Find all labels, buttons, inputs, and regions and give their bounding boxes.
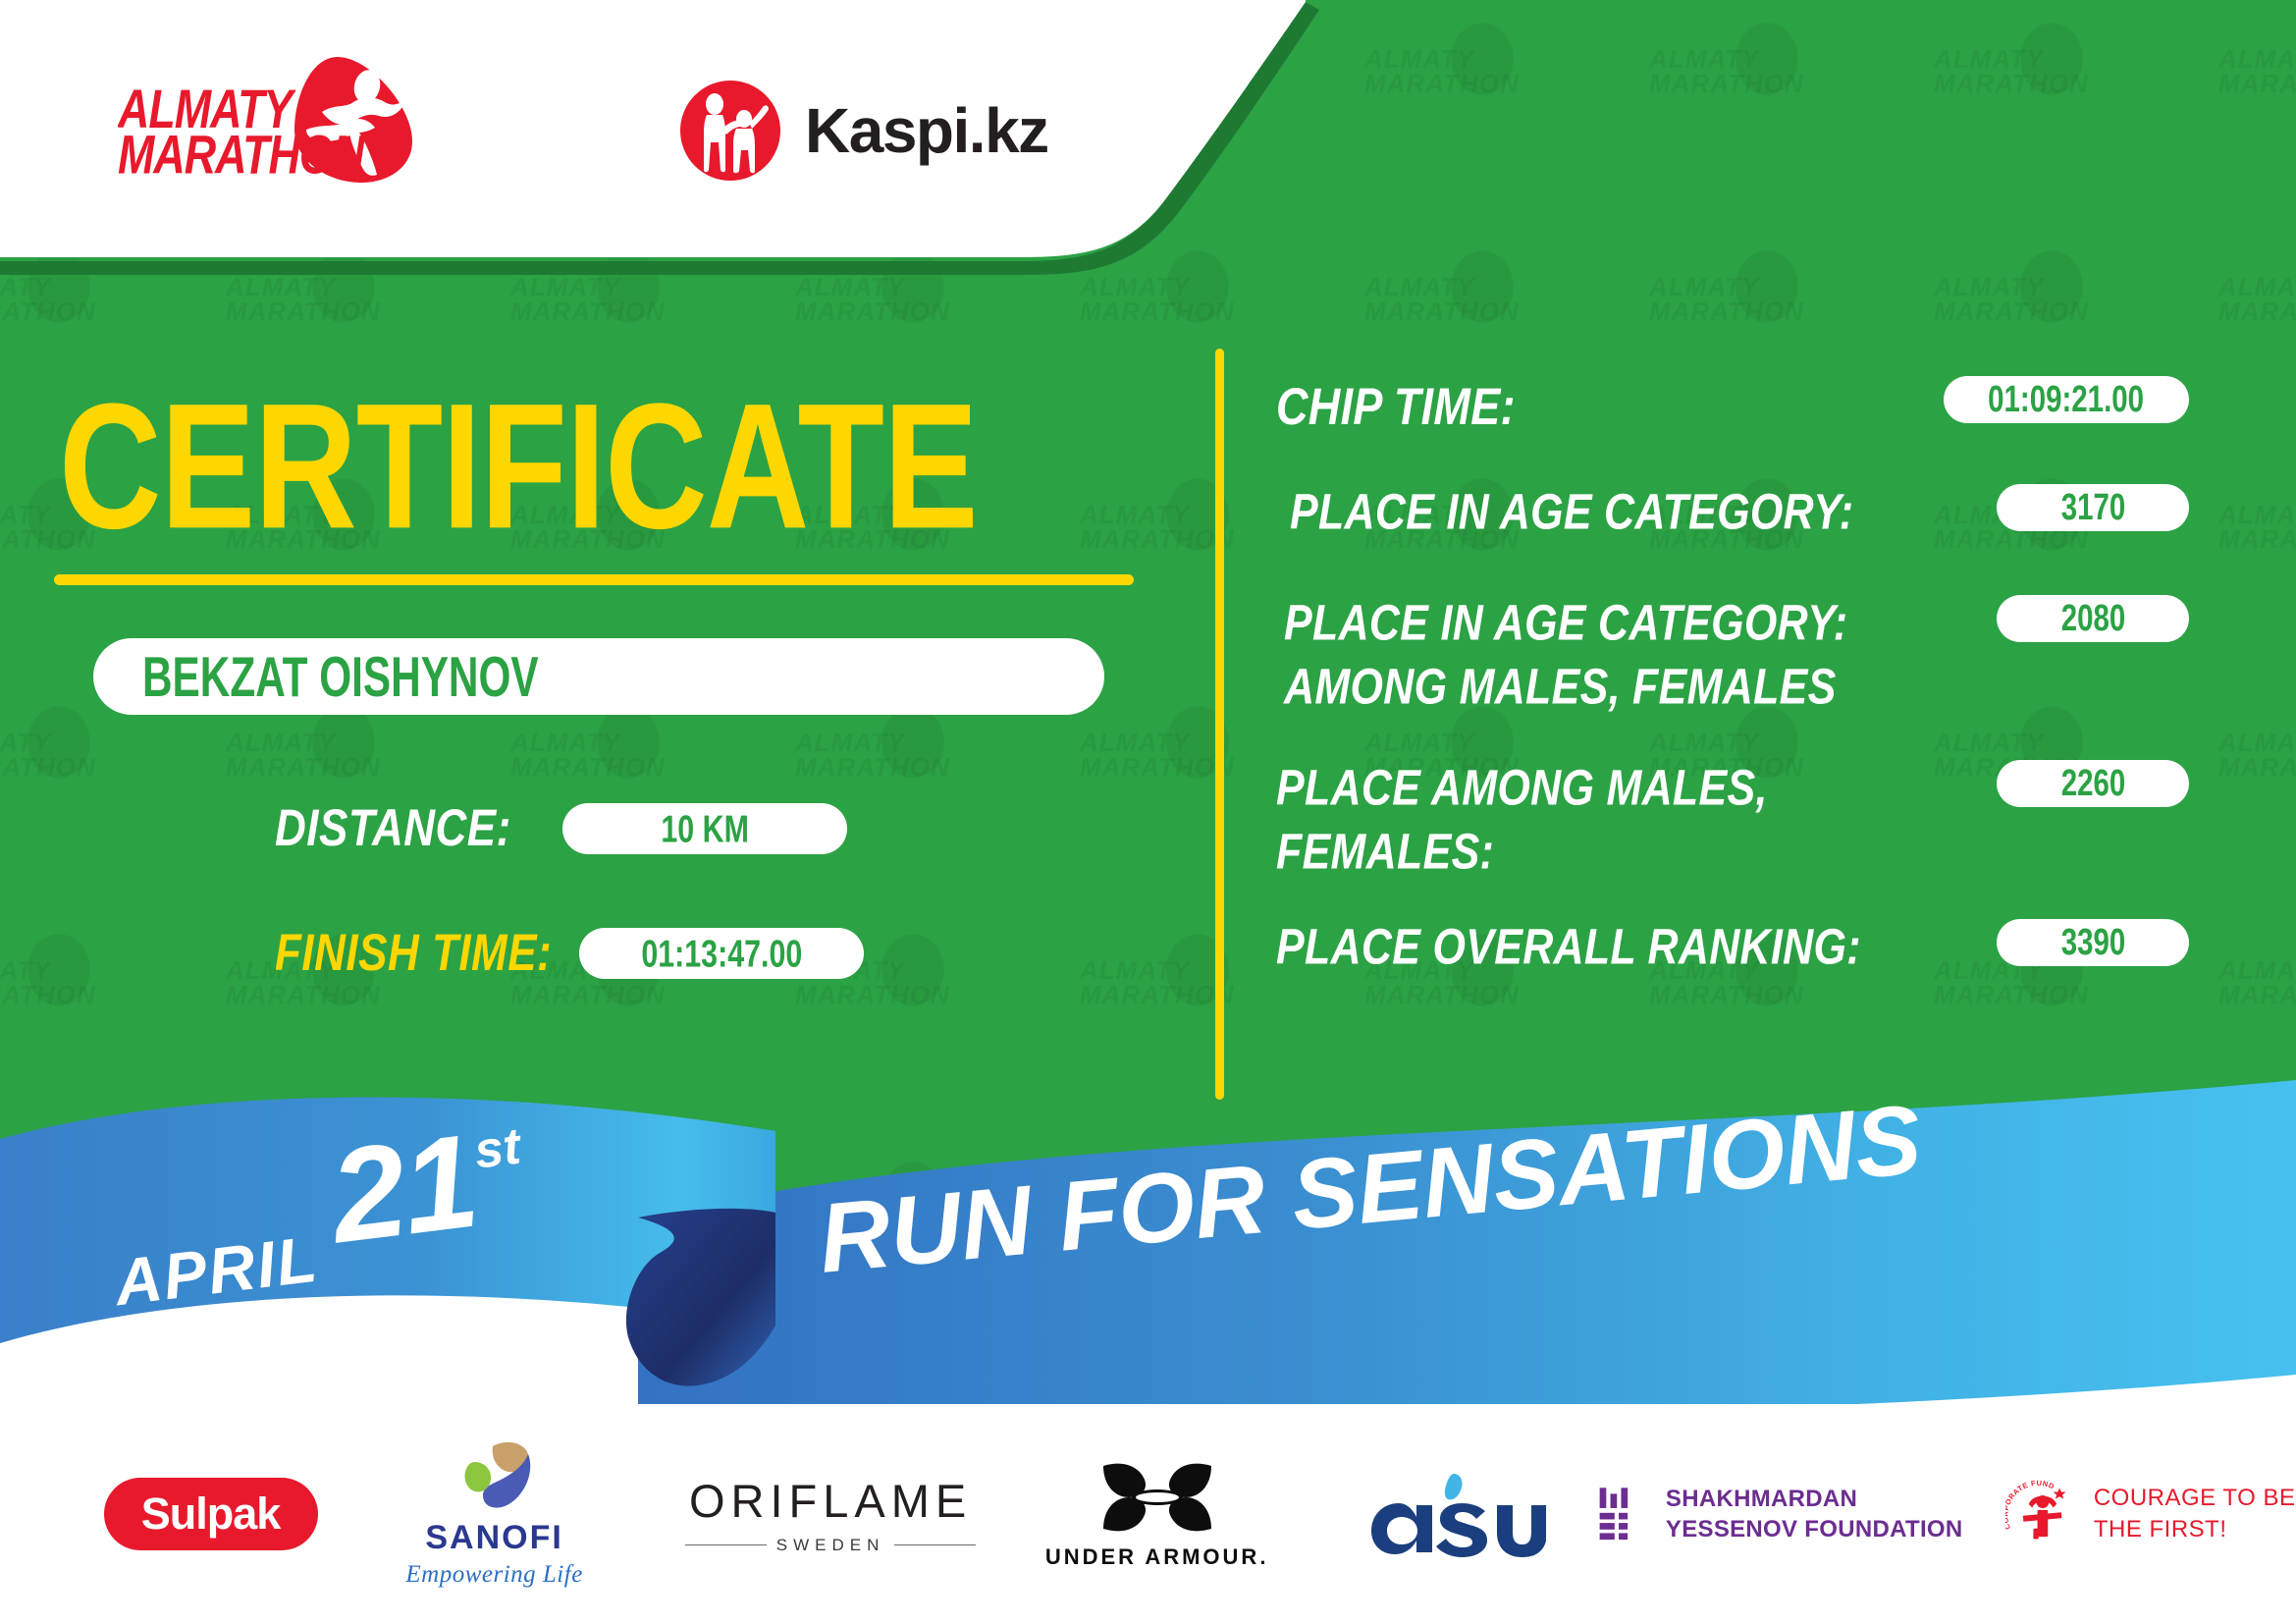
- finish-time-row: FINISH TIME: 01:13:47.00: [275, 928, 864, 979]
- watermark-text: ALMATY MARATHON: [226, 275, 381, 325]
- distance-value: 10 KM: [661, 806, 749, 850]
- watermark-text: ALMATY MARATHON: [2218, 503, 2296, 553]
- watermark-text: ALMATY MARATHON: [510, 275, 666, 325]
- participant-name-value: BEKZAT OISHYNOV: [142, 643, 539, 710]
- watermark-text: ALMATY MARATHON: [0, 731, 96, 781]
- distance-label: DISTANCE:: [275, 799, 511, 858]
- watermark-text: ALMATY MARATHON: [1080, 275, 1235, 325]
- svg-text:MARATHON: MARATHON: [118, 124, 366, 186]
- participant-name-field: BEKZAT OISHYNOV: [93, 638, 1104, 715]
- stat-value: 2080: [2060, 597, 2125, 640]
- oriflame-rule-left: [685, 1544, 767, 1546]
- sponsor-sanofi: SANOFI Empowering Life: [362, 1435, 626, 1593]
- stat-row-place-age-category: PLACE IN AGE CATEGORY: 3170: [1276, 481, 2189, 535]
- courage-to-be-first-logo: CORPORATE FUND: [2005, 1456, 2080, 1572]
- certificate-root: ALMATY MARATHONALMATY MARATHONALMATY MAR…: [0, 0, 2296, 1624]
- stat-value-pill: 2260: [1997, 760, 2189, 807]
- kaspi-people-icon: [677, 78, 783, 184]
- watermark-text: ALMATY MARATHON: [1934, 275, 2089, 325]
- watermark-text: ALMATY MARATHON: [0, 275, 96, 325]
- sponsor-under-armour: UNDER ARMOUR.: [1025, 1435, 1289, 1593]
- sponsor-oriflame: ORIFLAME SWEDEN: [685, 1435, 976, 1593]
- sanofi-wordmark: SANOFI: [425, 1519, 562, 1557]
- under-armour-wordmark: UNDER ARMOUR.: [1045, 1544, 1269, 1570]
- watermark-text: ALMATY MARATHON: [0, 958, 96, 1008]
- sponsor-courage-fund: CORPORATE FUND COURAGE TO BE THE FIRST!: [2005, 1435, 2296, 1593]
- stat-label: CHIP TIME:: [1276, 373, 1516, 440]
- yessenov-foundation-logo: [1596, 1467, 1644, 1561]
- watermark-text: ALMATY MARATHON: [1649, 275, 1804, 325]
- oriflame-rule-right: [894, 1544, 976, 1546]
- stat-value-pill: 01:09:21.00: [1944, 376, 2189, 423]
- watermark-text: ALMATY MARATHON: [1649, 47, 1804, 97]
- watermark-text: ALMATY MARATHON: [1364, 275, 1520, 325]
- watermark-text: ALMATY MARATHON: [510, 731, 666, 781]
- stats-column: CHIP TIME: 01:09:21.00 PLACE IN AGE CATE…: [1276, 373, 2189, 970]
- asu-logo: [1360, 1470, 1546, 1558]
- under-armour-logo: [1094, 1458, 1221, 1537]
- kaspi-wordmark: Kaspi.kz: [805, 94, 1048, 167]
- stat-row-chip-time: CHIP TIME: 01:09:21.00: [1276, 373, 2189, 430]
- finish-time-value-pill: 01:13:47.00: [579, 928, 864, 979]
- stat-row-place-age-category-gender: PLACE IN AGE CATEGORY: AMONG MALES, FEMA…: [1276, 592, 2189, 700]
- finish-time-value: 01:13:47.00: [641, 931, 802, 975]
- event-day: 21: [323, 1105, 484, 1273]
- title-underline: [54, 574, 1134, 585]
- stat-value: 3390: [2060, 921, 2125, 964]
- watermark-text: ALMATY MARATHON: [1080, 503, 1235, 553]
- courage-fund-tagline: COURAGE TO BE THE FIRST!: [2094, 1483, 2296, 1544]
- stat-value-pill: 3170: [1997, 484, 2189, 531]
- stat-value-pill: 2080: [1997, 595, 2189, 642]
- stat-label: PLACE IN AGE CATEGORY:: [1290, 481, 1853, 545]
- watermark-text: ALMATY MARATHON: [2218, 47, 2296, 97]
- kaspi-sponsor-logo: Kaspi.kz: [677, 77, 1050, 185]
- sulpak-logo: Sulpak: [104, 1478, 318, 1550]
- vertical-divider: [1215, 349, 1224, 1100]
- oriflame-wordmark: ORIFLAME: [689, 1474, 972, 1528]
- oriflame-tagline: SWEDEN: [776, 1536, 885, 1555]
- watermark-text: ALMATY MARATHON: [1080, 958, 1235, 1008]
- event-day-suffix: st: [471, 1116, 523, 1180]
- almaty-marathon-logo: ALMATY MARATHON: [118, 51, 432, 189]
- sponsor-asu: [1338, 1435, 1567, 1593]
- stat-label: PLACE AMONG MALES, FEMALES:: [1276, 757, 1963, 885]
- finish-time-label: FINISH TIME:: [275, 924, 552, 983]
- sponsor-sulpak: Sulpak: [79, 1435, 343, 1593]
- watermark-text: ALMATY MARATHON: [2218, 731, 2296, 781]
- stat-row-place-among-gender: PLACE AMONG MALES, FEMALES: 2260: [1276, 757, 2189, 865]
- stat-value: 2260: [2060, 762, 2125, 805]
- watermark-text: ALMATY MARATHON: [2218, 958, 2296, 1008]
- stat-label: PLACE OVERALL RANKING:: [1276, 916, 1861, 980]
- stat-value-pill: 3390: [1997, 919, 2189, 966]
- watermark-text: ALMATY MARATHON: [226, 731, 381, 781]
- sulpak-wordmark: Sulpak: [141, 1489, 281, 1540]
- stat-value: 3170: [2060, 486, 2125, 529]
- stat-row-place-overall: PLACE OVERALL RANKING: 3390: [1276, 916, 2189, 970]
- watermark-text: ALMATY MARATHON: [2218, 275, 2296, 325]
- sanofi-logo: [450, 1440, 540, 1513]
- watermark-text: ALMATY MARATHON: [1934, 47, 2089, 97]
- sanofi-tagline: Empowering Life: [405, 1561, 582, 1589]
- stat-label: PLACE IN AGE CATEGORY: AMONG MALES, FEMA…: [1284, 592, 1971, 720]
- watermark-text: ALMATY MARATHON: [795, 731, 950, 781]
- oriflame-sub: SWEDEN: [685, 1536, 976, 1555]
- page-title: CERTIFICATE: [59, 378, 978, 557]
- distance-value-pill: 10 KM: [562, 803, 847, 854]
- sponsor-yessenov-foundation: SHAKHMARDAN YESSENOV FOUNDATION: [1596, 1435, 1966, 1593]
- stat-value: 01:09:21.00: [1989, 378, 2145, 421]
- watermark-text: ALMATY MARATHON: [1080, 731, 1235, 781]
- yessenov-foundation-wordmark: SHAKHMARDAN YESSENOV FOUNDATION: [1666, 1484, 1966, 1544]
- distance-row: DISTANCE: 10 KM: [275, 803, 847, 854]
- sponsor-bar: Sulpak SANOFI Empowering Life ORIFLAME S…: [0, 1404, 2296, 1624]
- watermark-text: ALMATY MARATHON: [795, 275, 950, 325]
